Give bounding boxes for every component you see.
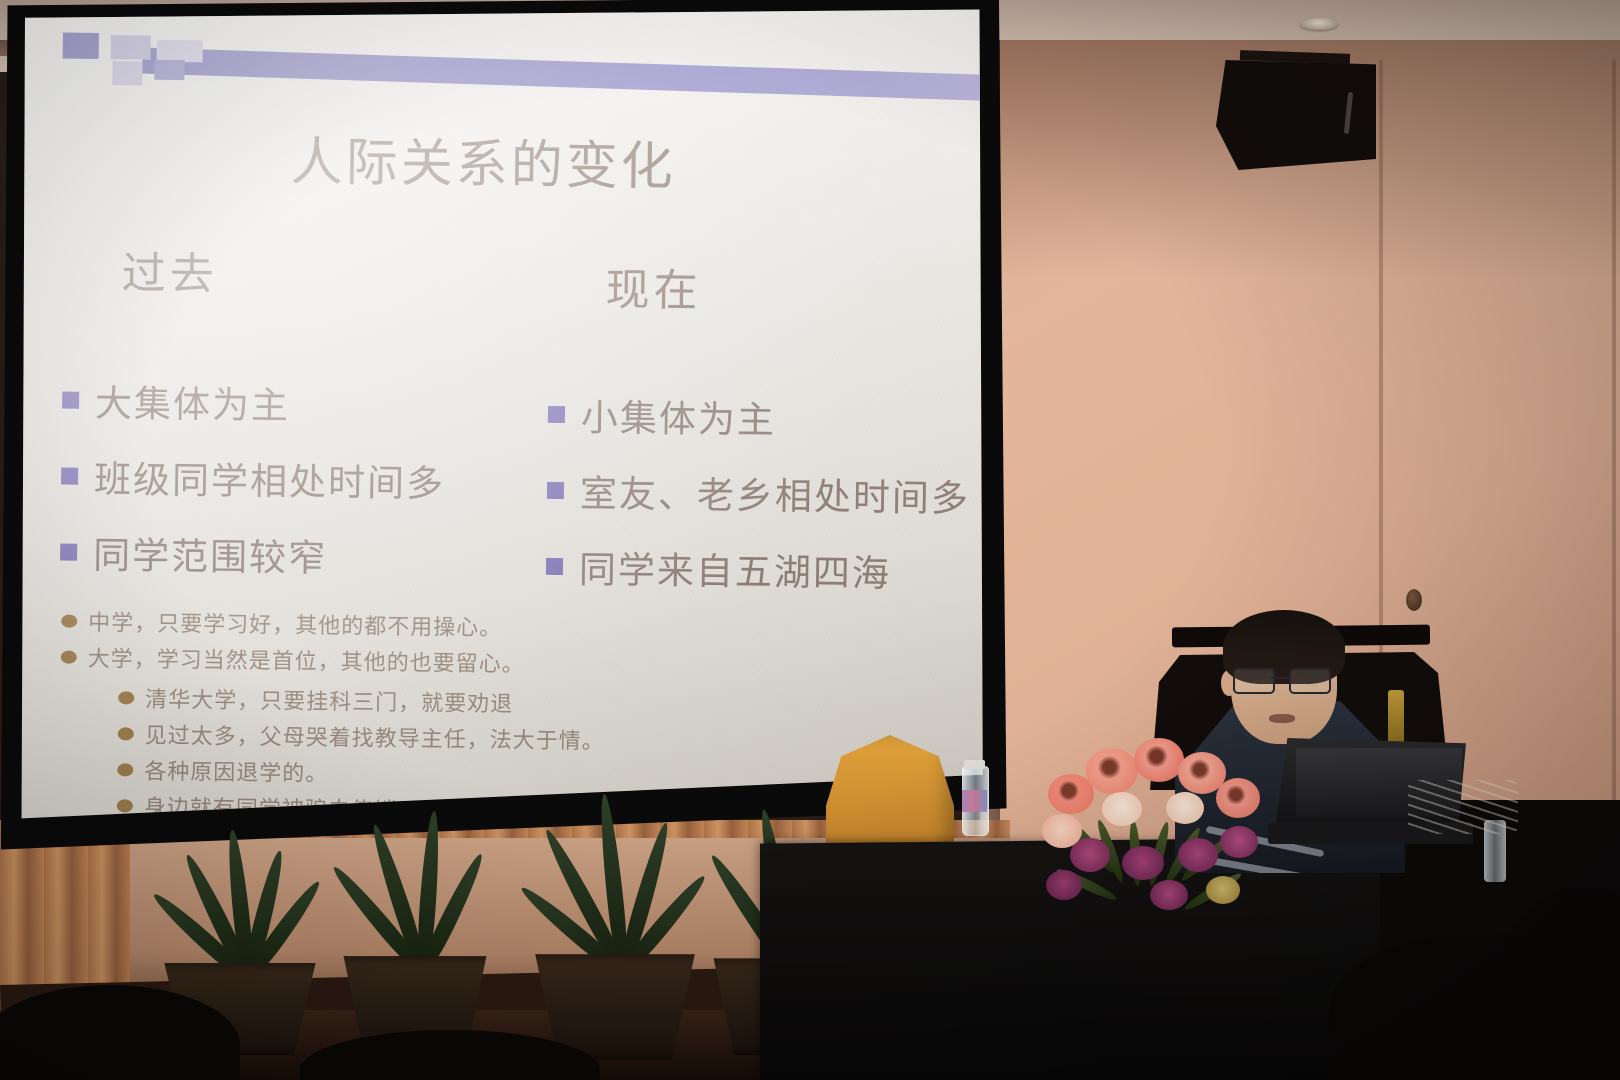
wall-panel-seam [1612, 60, 1616, 890]
bottle-cap [964, 760, 985, 769]
ceiling-speaker-icon [1216, 60, 1376, 170]
lecture-hall-photo: 人际关系的变化 过去 现在 大集体为主 班级同学相处时间多 同学范围较窄 [0, 0, 1620, 1080]
wall-socket-icon [1406, 589, 1422, 611]
screen-surface: 人际关系的变化 过去 现在 大集体为主 班级同学相处时间多 同学范围较窄 [15, 6, 988, 830]
projection-screen: 人际关系的变化 过去 现在 大集体为主 班级同学相处时间多 同学范围较窄 [0, 0, 1025, 859]
bottle-label [962, 790, 987, 812]
presenter-mouth [1269, 714, 1295, 723]
flower-arrangement [1030, 730, 1290, 960]
cables [1408, 780, 1518, 834]
screen-vignette [15, 6, 988, 830]
glasses-icon [1231, 668, 1335, 690]
ceiling-downlight-icon [1300, 18, 1338, 30]
potted-plant [330, 840, 500, 1055]
potted-plant [520, 830, 710, 1060]
